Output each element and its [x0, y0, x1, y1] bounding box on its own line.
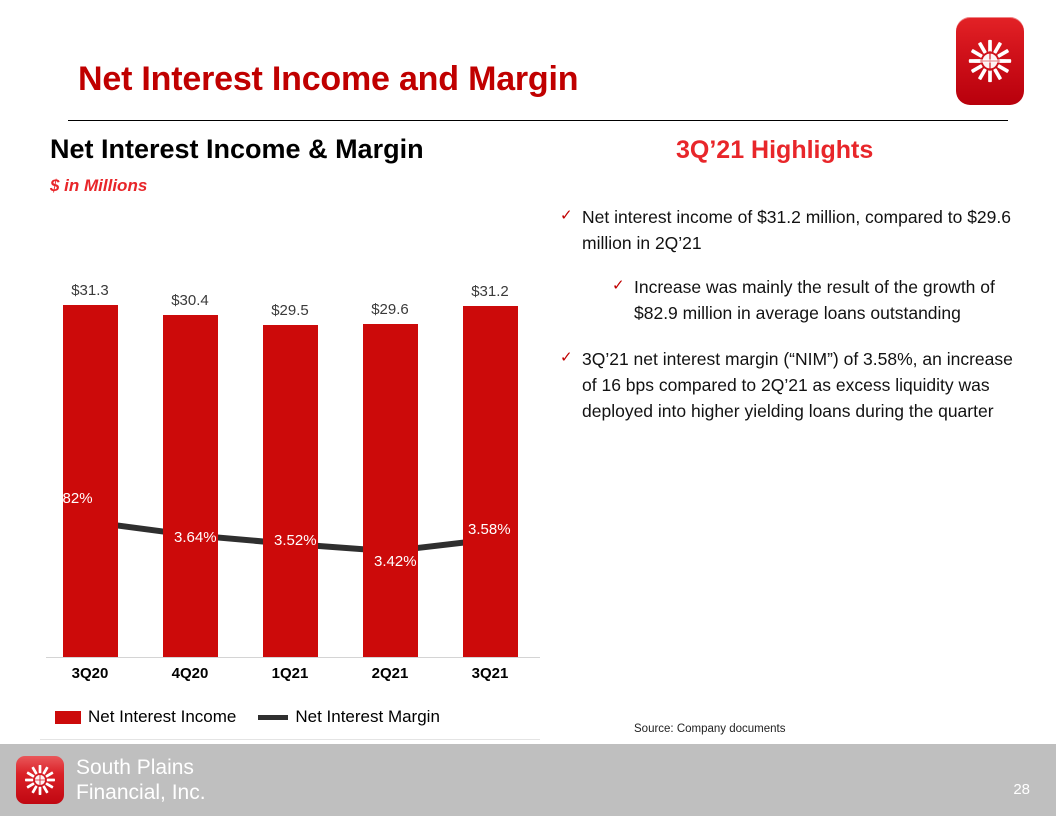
- source-note: Source: Company documents: [634, 723, 786, 735]
- highlight-bullet-text: 3Q’21 net interest margin (“NIM”) of 3.5…: [582, 346, 1030, 424]
- slide-canvas: Net Interest Income and Margin: [0, 0, 1056, 816]
- chart-legend: Net Interest Income Net Interest Margin: [55, 707, 440, 727]
- margin-value-label: 3.42%: [374, 553, 417, 570]
- footer-brand: South Plains Financial, Inc.: [76, 755, 206, 805]
- bar-4q20: [163, 315, 218, 657]
- margin-value-label: 3.64%: [174, 529, 217, 546]
- bar-value-label: $29.6: [345, 301, 435, 318]
- bar-1q21: [263, 325, 318, 657]
- category-label-3q20: 3Q20: [45, 665, 135, 682]
- margin-value-label: 3.82%: [50, 490, 93, 507]
- legend-line-swatch-icon: [258, 715, 288, 720]
- bar-value-label: $29.5: [245, 302, 335, 319]
- highlight-bullet: ✓Net interest income of $31.2 million, c…: [560, 204, 1030, 256]
- legend-label-net-interest-margin: Net Interest Margin: [295, 707, 440, 727]
- category-label-3q21: 3Q21: [445, 665, 535, 682]
- highlight-bullet-text: Increase was mainly the result of the gr…: [634, 274, 1030, 326]
- check-icon: ✓: [612, 274, 634, 296]
- category-label-2q21: 2Q21: [345, 665, 435, 682]
- check-icon: ✓: [560, 346, 582, 368]
- header-divider: [68, 120, 1008, 121]
- highlight-bullet: ✓Increase was mainly the result of the g…: [560, 274, 1030, 326]
- bar-value-label: $31.3: [45, 282, 135, 299]
- page-title: Net Interest Income and Margin: [78, 60, 578, 99]
- bar-value-label: $31.2: [445, 283, 535, 300]
- category-label-1q21: 1Q21: [245, 665, 335, 682]
- chart-heading: Net Interest Income & Margin: [50, 134, 424, 165]
- page-number: 28: [1013, 781, 1030, 798]
- bar-2q21: [363, 324, 418, 657]
- highlights-heading: 3Q’21 Highlights: [676, 136, 873, 165]
- margin-value-label: 3.52%: [274, 532, 317, 549]
- chart-subheading: $ in Millions: [50, 176, 147, 196]
- legend-item-net-interest-income[interactable]: Net Interest Income: [55, 707, 236, 727]
- bar-3q20: [63, 305, 118, 657]
- bar-3q21: [463, 306, 518, 657]
- category-label-4q20: 4Q20: [145, 665, 235, 682]
- wagon-wheel-logo-icon: [956, 17, 1024, 105]
- legend-item-net-interest-margin[interactable]: Net Interest Margin: [258, 707, 440, 727]
- footer-brand-line1: South Plains: [76, 755, 206, 780]
- chart-bottom-divider: [40, 739, 540, 740]
- bar-value-label: $30.4: [145, 292, 235, 309]
- margin-value-label: 3.58%: [468, 521, 511, 538]
- check-icon: ✓: [560, 204, 582, 226]
- net-interest-income-margin-chart: $31.33Q20$30.44Q20$29.51Q21$29.62Q21$31.…: [40, 250, 540, 740]
- legend-bar-swatch-icon: [55, 711, 81, 724]
- category-axis-line: [46, 657, 540, 658]
- highlight-bullet: ✓3Q’21 net interest margin (“NIM”) of 3.…: [560, 346, 1030, 424]
- legend-label-net-interest-income: Net Interest Income: [88, 707, 236, 727]
- highlight-bullet-text: Net interest income of $31.2 million, co…: [582, 204, 1030, 256]
- footer-wagon-wheel-logo-icon: [16, 756, 64, 804]
- slide-footer: South Plains Financial, Inc. 28: [0, 744, 1056, 816]
- footer-brand-line2: Financial, Inc.: [76, 780, 206, 805]
- chart-plot-area: $31.33Q20$30.44Q20$29.51Q21$29.62Q21$31.…: [40, 250, 540, 660]
- highlights-bullet-list: ✓Net interest income of $31.2 million, c…: [560, 204, 1030, 440]
